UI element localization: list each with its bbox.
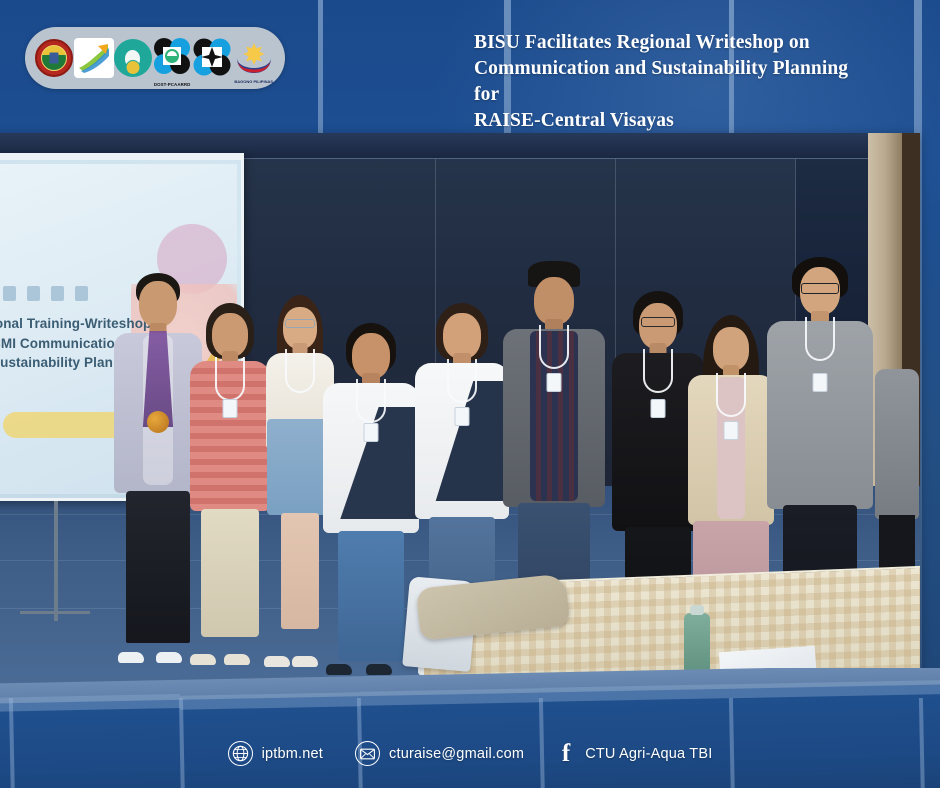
- footer-bar: iptbm.net cturaise@gmail.com f CTU Agri-…: [0, 668, 940, 788]
- footer-website-item[interactable]: iptbm.net: [212, 741, 339, 766]
- dost-pcaarrd-label: DOST-PCAARRD: [154, 82, 191, 87]
- teal-circle-emblem-logo-icon: [114, 39, 152, 77]
- eyeglasses: [641, 317, 675, 327]
- dost-pcaarrd-logo-icon: DOST-PCAARRD: [152, 38, 192, 78]
- footer-website-label: iptbm.net: [262, 746, 323, 762]
- footer-email-item[interactable]: cturaise@gmail.com: [339, 741, 540, 766]
- slide-icon-row: [3, 286, 88, 301]
- poster-banner: DOST-PCAARRD BAGONG PILIPINAS BISU Fa: [0, 0, 940, 788]
- agency-swoosh-logo-icon: [74, 38, 114, 78]
- bisu-university-seal-icon: [35, 39, 73, 77]
- footer-facebook-item[interactable]: f CTU Agri-Aqua TBI: [540, 741, 728, 766]
- logo-strip: DOST-PCAARRD BAGONG PILIPINAS: [25, 27, 285, 89]
- dost-logo-icon: [192, 38, 232, 78]
- eyeglasses: [285, 319, 315, 328]
- screen-stand: [54, 501, 58, 621]
- eyeglasses: [801, 283, 839, 294]
- footer-email-label: cturaise@gmail.com: [389, 746, 524, 762]
- page-title-line-1: BISU Facilitates Regional Writeshop on: [474, 30, 874, 56]
- footer-facebook-label: CTU Agri-Aqua TBI: [585, 746, 712, 762]
- page-title-line-3: RAISE-Central Visayas: [474, 108, 874, 134]
- page-title: BISU Facilitates Regional Writeshop on C…: [474, 30, 874, 134]
- bagong-pilipinas-logo-icon: BAGONG PILIPINAS: [233, 38, 275, 78]
- screen-leg: [20, 611, 90, 614]
- facebook-icon: f: [556, 741, 576, 766]
- envelope-icon: [355, 741, 380, 766]
- bagong-pilipinas-label: BAGONG PILIPINAS: [234, 79, 273, 84]
- page-title-line-2: Communication and Sustainability Plannin…: [474, 56, 874, 108]
- group-photo: ional Training-Writeshop CMI Communicati…: [0, 133, 920, 685]
- footer-contact-list: iptbm.net cturaise@gmail.com f CTU Agri-…: [0, 741, 940, 766]
- globe-icon: [228, 741, 253, 766]
- person-2: [186, 303, 274, 665]
